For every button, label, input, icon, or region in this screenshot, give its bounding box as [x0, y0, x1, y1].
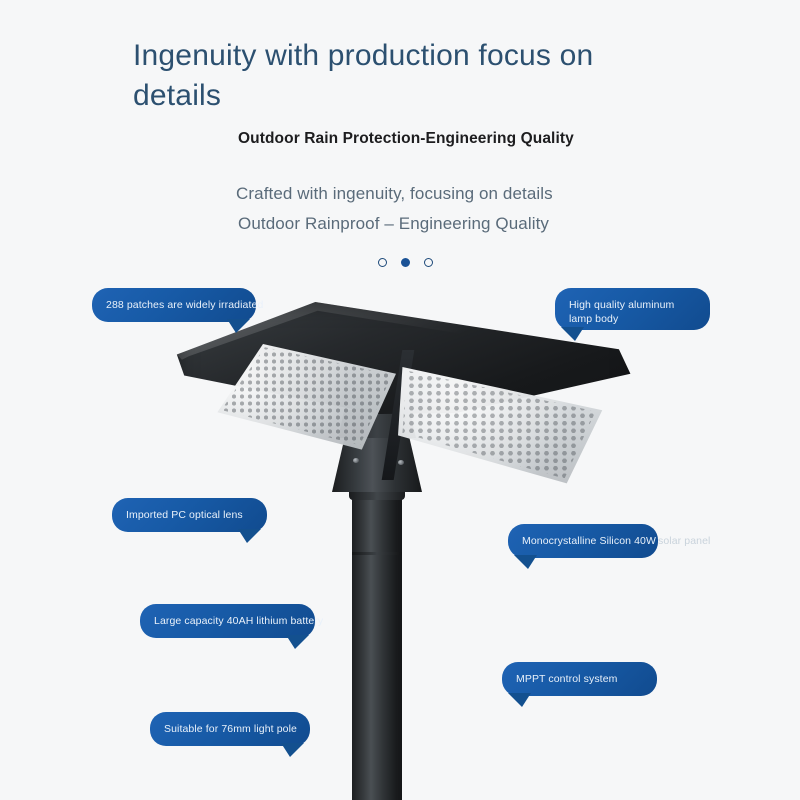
callout-mppt[interactable]: MPPT control system [502, 662, 657, 696]
bubble-tail-icon [561, 327, 584, 341]
callout-battery[interactable]: Large capacity 40AH lithium battery [140, 604, 315, 638]
callout-label: MPPT control system [516, 673, 617, 685]
callout-label-overflow: solar panel [658, 534, 710, 548]
tagline-line-2: Outdoor Rainproof – Engineering Quality [238, 214, 638, 234]
tagline-line-1: Crafted with ingenuity, focusing on deta… [236, 184, 636, 204]
bubble-tail-icon [286, 635, 309, 649]
callout-optical-lens[interactable]: Imported PC optical lens [112, 498, 267, 532]
bubble-tail-icon [508, 693, 531, 707]
carousel-dot-1[interactable] [378, 258, 387, 267]
carousel-dot-3[interactable] [424, 258, 433, 267]
callout-label: Monocrystalline Silicon 40W [522, 535, 656, 547]
page-subtitle: Outdoor Rain Protection-Engineering Qual… [238, 128, 578, 149]
callout-label: Imported PC optical lens [126, 509, 243, 521]
bubble-tail-icon [514, 555, 537, 569]
callout-light-pole[interactable]: Suitable for 76mm light pole [150, 712, 310, 746]
page-title: Ingenuity with production focus on detai… [133, 36, 653, 116]
bubble-tail-icon [238, 529, 261, 543]
bracket-screw-left [353, 458, 359, 463]
bubble-tail-icon [281, 743, 304, 757]
callout-label: High quality aluminum lamp body [569, 299, 674, 325]
callout-label: Large capacity 40AH lithium battery [154, 615, 323, 627]
bubble-tail-icon [227, 319, 250, 333]
callout-led-patches[interactable]: 288 patches are widely irradiated [92, 288, 256, 322]
callout-lamp-body[interactable]: High quality aluminum lamp body [555, 288, 710, 330]
callout-label: Suitable for 76mm light pole [164, 723, 297, 735]
bracket-screw-right [398, 460, 404, 465]
product-showcase-page: Ingenuity with production focus on detai… [0, 0, 800, 800]
carousel-dots[interactable] [378, 258, 433, 267]
pole-seam [352, 552, 402, 555]
lamp-pole [352, 495, 402, 800]
callout-solar-panel[interactable]: Monocrystalline Silicon 40W solar panel [508, 524, 658, 558]
carousel-dot-2-active[interactable] [401, 258, 410, 267]
callout-label: 288 patches are widely irradiated [106, 299, 263, 311]
